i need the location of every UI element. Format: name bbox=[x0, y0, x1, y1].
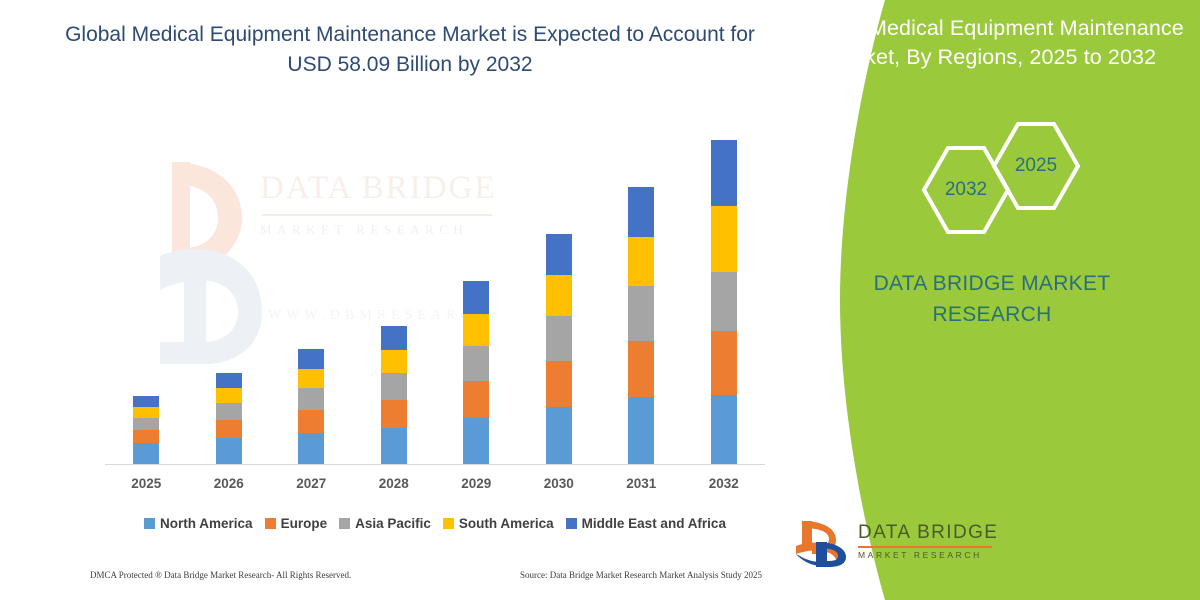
bar-segment[interactable] bbox=[711, 272, 737, 332]
bar-segment[interactable] bbox=[298, 369, 324, 389]
legend-item[interactable]: North America bbox=[144, 516, 253, 531]
bar-segment[interactable] bbox=[133, 430, 159, 443]
panel-title: Global Medical Equipment Maintenance Mar… bbox=[800, 14, 1184, 72]
bar-segment[interactable] bbox=[463, 346, 489, 382]
bar-segment[interactable] bbox=[546, 316, 572, 361]
bar-segment[interactable] bbox=[546, 275, 572, 316]
bar-segment[interactable] bbox=[298, 388, 324, 410]
chart-legend: North AmericaEuropeAsia PacificSouth Ame… bbox=[105, 512, 765, 534]
x-axis-label: 2027 bbox=[270, 476, 353, 491]
dbmr-wordmark: DATA BRIDGE MARKET RESEARCH bbox=[858, 522, 998, 560]
x-axis-label: 2032 bbox=[683, 476, 766, 491]
bar-segment[interactable] bbox=[298, 410, 324, 433]
bar-group[interactable] bbox=[518, 234, 601, 464]
bar-segment[interactable] bbox=[298, 349, 324, 369]
x-axis-line bbox=[105, 464, 765, 465]
green-panel-content: Global Medical Equipment Maintenance Mar… bbox=[780, 0, 1200, 600]
x-axis-label: 2025 bbox=[105, 476, 188, 491]
bar-segment[interactable] bbox=[216, 420, 242, 438]
dbmr-wordmark-top: DATA BRIDGE bbox=[858, 522, 998, 544]
dbmr-logo: DATA BRIDGE MARKET RESEARCH bbox=[788, 512, 1003, 574]
bar-group[interactable] bbox=[600, 187, 683, 464]
legend-item[interactable]: Asia Pacific bbox=[339, 516, 431, 531]
bar-segment[interactable] bbox=[381, 350, 407, 373]
bar-segment[interactable] bbox=[546, 361, 572, 407]
dbmr-wordmark-rule bbox=[858, 546, 992, 548]
legend-swatch bbox=[566, 518, 577, 529]
legend-label: Middle East and Africa bbox=[582, 516, 726, 531]
bar-segment[interactable] bbox=[133, 418, 159, 430]
hexagon-2025-label: 2025 bbox=[988, 118, 1084, 214]
footer: DMCA Protected ® Data Bridge Market Rese… bbox=[90, 566, 780, 584]
x-axis-labels: 20252026202720282029203020312032 bbox=[105, 476, 765, 496]
legend-swatch bbox=[339, 518, 350, 529]
bar-segment[interactable] bbox=[463, 381, 489, 418]
footer-source: Source: Data Bridge Market Research Mark… bbox=[520, 570, 762, 580]
dbmr-wordmark-bottom: MARKET RESEARCH bbox=[858, 550, 998, 560]
bar-group[interactable] bbox=[105, 396, 188, 464]
x-axis-label: 2029 bbox=[435, 476, 518, 491]
legend-label: South America bbox=[459, 516, 554, 531]
bar-segment[interactable] bbox=[711, 331, 737, 395]
bar-segment[interactable] bbox=[133, 396, 159, 407]
legend-item[interactable]: Middle East and Africa bbox=[566, 516, 726, 531]
legend-label: Asia Pacific bbox=[355, 516, 431, 531]
bar-segment[interactable] bbox=[381, 428, 407, 464]
bar-segment[interactable] bbox=[463, 418, 489, 464]
bar-segment[interactable] bbox=[381, 326, 407, 350]
legend-label: North America bbox=[160, 516, 253, 531]
bar-segment[interactable] bbox=[463, 281, 489, 314]
bar-segment[interactable] bbox=[546, 407, 572, 464]
x-axis-label: 2026 bbox=[188, 476, 271, 491]
bar-group[interactable] bbox=[188, 373, 271, 464]
bar-segment[interactable] bbox=[133, 443, 159, 464]
hexagon-2025: 2025 bbox=[988, 118, 1084, 214]
bar-segment[interactable] bbox=[298, 433, 324, 464]
bar-segment[interactable] bbox=[216, 403, 242, 420]
bar-group[interactable] bbox=[435, 281, 518, 464]
bar-chart-plot bbox=[105, 140, 765, 465]
bar-group[interactable] bbox=[353, 326, 436, 464]
bar-segment[interactable] bbox=[711, 395, 737, 464]
bar-group[interactable] bbox=[270, 349, 353, 464]
bar-segment[interactable] bbox=[381, 400, 407, 428]
footer-dmca: DMCA Protected ® Data Bridge Market Rese… bbox=[90, 570, 351, 580]
bar-segment[interactable] bbox=[216, 438, 242, 464]
bar-segment[interactable] bbox=[711, 140, 737, 206]
x-axis-label: 2031 bbox=[600, 476, 683, 491]
legend-label: Europe bbox=[281, 516, 328, 531]
x-axis-label: 2030 bbox=[518, 476, 601, 491]
bar-segment[interactable] bbox=[216, 388, 242, 404]
bar-segment[interactable] bbox=[628, 187, 654, 237]
legend-item[interactable]: Europe bbox=[265, 516, 328, 531]
bar-segment[interactable] bbox=[463, 314, 489, 346]
bar-group[interactable] bbox=[683, 140, 766, 464]
bar-segment[interactable] bbox=[546, 234, 572, 275]
panel-brand-text: DATA BRIDGE MARKET RESEARCH bbox=[820, 268, 1164, 330]
bar-segment[interactable] bbox=[628, 397, 654, 464]
year-hexagons: 2032 2025 bbox=[900, 118, 1190, 238]
green-side-panel: Global Medical Equipment Maintenance Mar… bbox=[780, 0, 1200, 600]
bar-segment[interactable] bbox=[628, 341, 654, 397]
dbmr-logo-icon bbox=[794, 518, 852, 570]
bar-segment[interactable] bbox=[711, 206, 737, 271]
chart-panel: Global Medical Equipment Maintenance Mar… bbox=[0, 0, 820, 600]
legend-item[interactable]: South America bbox=[443, 516, 554, 531]
page-title: Global Medical Equipment Maintenance Mar… bbox=[60, 20, 760, 80]
bar-segment[interactable] bbox=[133, 407, 159, 418]
bar-segment[interactable] bbox=[628, 286, 654, 341]
bar-segment[interactable] bbox=[628, 237, 654, 286]
legend-swatch bbox=[443, 518, 454, 529]
legend-swatch bbox=[144, 518, 155, 529]
bar-segment[interactable] bbox=[381, 373, 407, 400]
bar-segment[interactable] bbox=[216, 373, 242, 388]
infographic-root: Global Medical Equipment Maintenance Mar… bbox=[0, 0, 1200, 600]
legend-swatch bbox=[265, 518, 276, 529]
x-axis-label: 2028 bbox=[353, 476, 436, 491]
